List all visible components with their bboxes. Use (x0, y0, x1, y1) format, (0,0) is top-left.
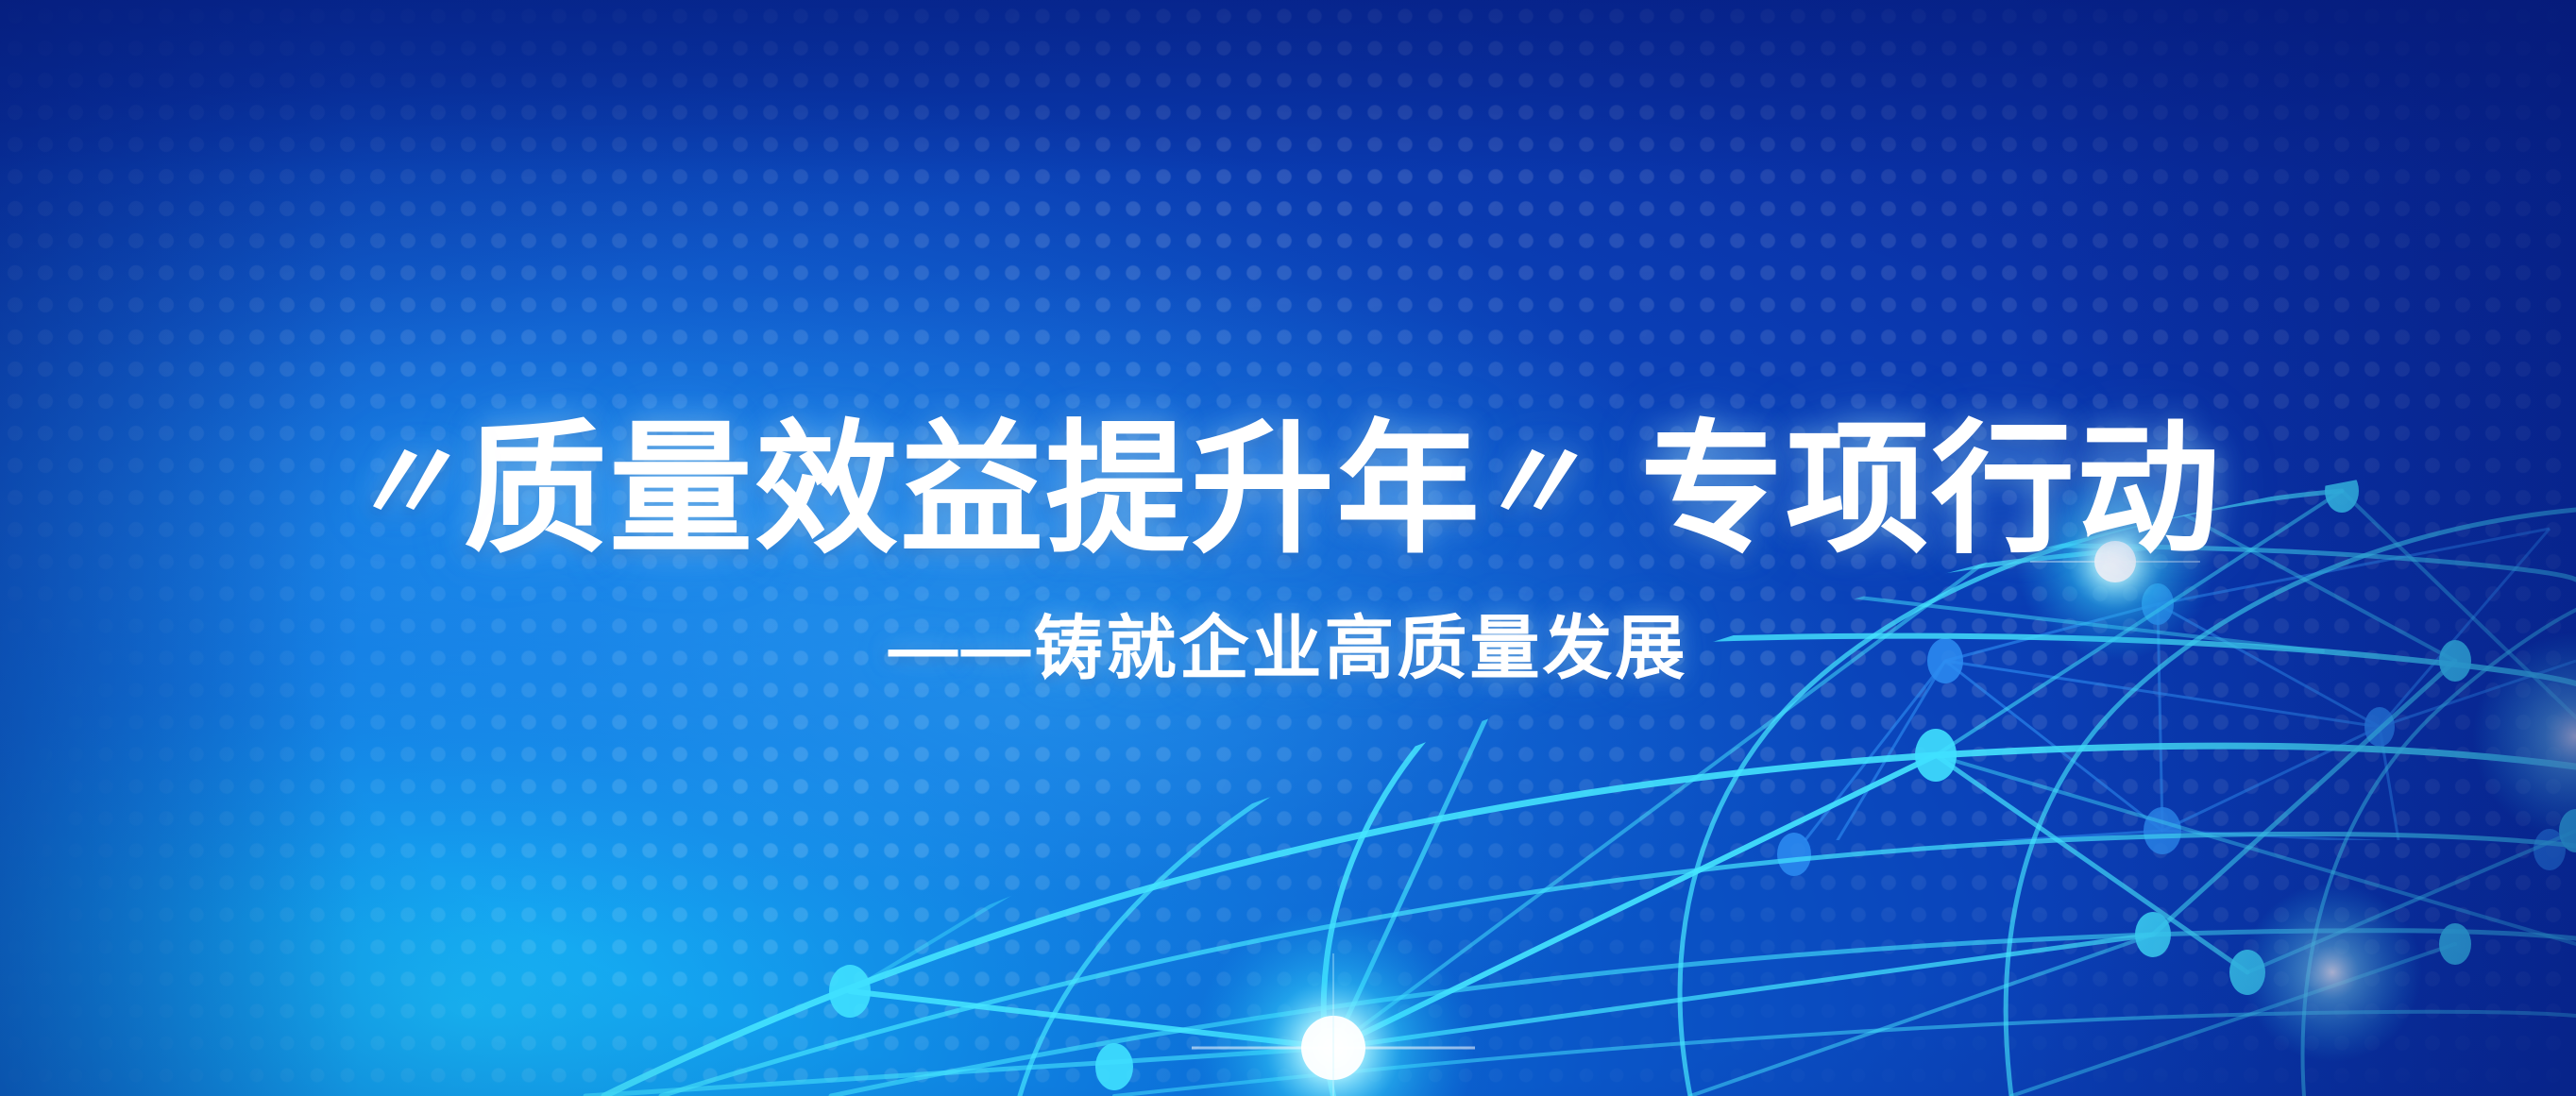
close-quote-mark: 〃 (1467, 417, 1605, 551)
open-quote-mark: 〃 (340, 417, 478, 551)
headline-block: 〃质量效益提升年〃专项行动 ——铸就企业高质量发展 (0, 406, 2576, 691)
title-suffix-text: 专项行动 (1640, 410, 2222, 570)
promo-banner: 〃质量效益提升年〃专项行动 ——铸就企业高质量发展 (0, 0, 2576, 1096)
page-title: 〃质量效益提升年〃专项行动 (0, 406, 2576, 575)
page-subtitle: ——铸就企业高质量发展 (0, 607, 2576, 691)
title-main-text: 质量效益提升年 (464, 410, 1482, 570)
